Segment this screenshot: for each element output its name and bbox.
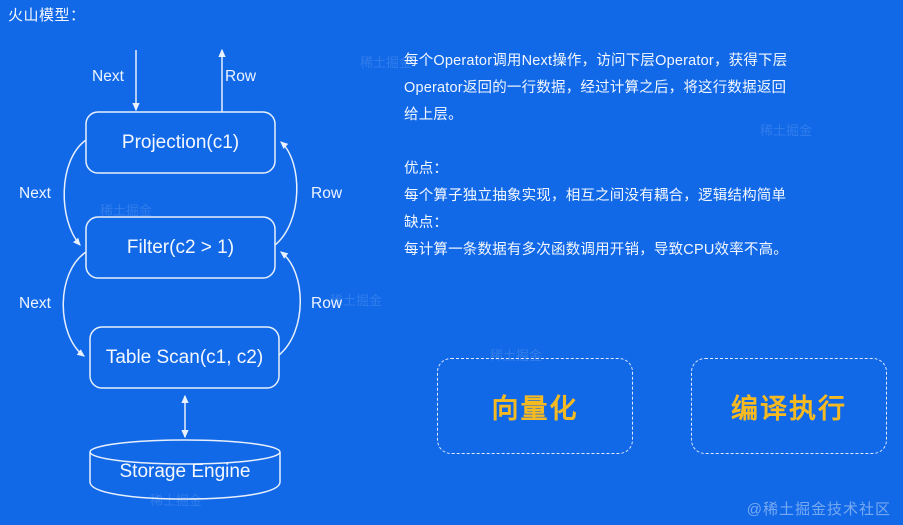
arrow-next-projection-to-filter bbox=[64, 140, 86, 245]
slide-canvas: 火山模型： bbox=[0, 0, 903, 525]
description-line-2: Operator返回的一行数据，经过计算之后，将这行数据返回 bbox=[404, 75, 864, 102]
edge-label-next-bottom: Next bbox=[19, 295, 51, 313]
pros-text: 每个算子独立抽象实现，相互之间没有耦合，逻辑结构简单 bbox=[404, 183, 864, 210]
description-line-3: 给上层。 bbox=[404, 102, 864, 129]
callout-vectorization[interactable]: 向量化 bbox=[437, 358, 633, 454]
description-line-1: 每个Operator调用Next操作，访问下层Operator，获得下层 bbox=[404, 48, 864, 75]
node-label-projection: Projection(c1) bbox=[86, 132, 275, 154]
edge-label-row-top: Row bbox=[225, 68, 256, 86]
callout-compiled-execution[interactable]: 编译执行 bbox=[691, 358, 887, 454]
node-label-filter: Filter(c2 > 1) bbox=[86, 237, 275, 259]
edge-label-next-top: Next bbox=[92, 68, 124, 86]
cons-heading: 缺点： bbox=[404, 210, 864, 237]
edge-label-row-mid: Row bbox=[311, 185, 342, 203]
arrow-next-filter-to-tablescan bbox=[63, 252, 86, 356]
callout-vectorization-label: 向量化 bbox=[492, 387, 579, 426]
edge-label-row-bottom: Row bbox=[311, 295, 342, 313]
edge-label-next-mid: Next bbox=[19, 185, 51, 203]
volcano-model-diagram bbox=[0, 0, 400, 525]
watermark-brand: @稀土掘金技术社区 bbox=[747, 498, 891, 519]
node-label-storage: Storage Engine bbox=[90, 461, 280, 483]
callout-compiled-execution-label: 编译执行 bbox=[731, 387, 847, 426]
node-label-tablescan: Table Scan(c1, c2) bbox=[90, 347, 279, 369]
description-panel: 每个Operator调用Next操作，访问下层Operator，获得下层 Ope… bbox=[404, 48, 864, 264]
arrow-row-filter-to-projection bbox=[275, 142, 297, 245]
pros-heading: 优点： bbox=[404, 156, 864, 183]
arrow-row-tablescan-to-filter bbox=[279, 252, 300, 355]
cons-text: 每计算一条数据有多次函数调用开销，导致CPU效率不高。 bbox=[404, 237, 864, 264]
